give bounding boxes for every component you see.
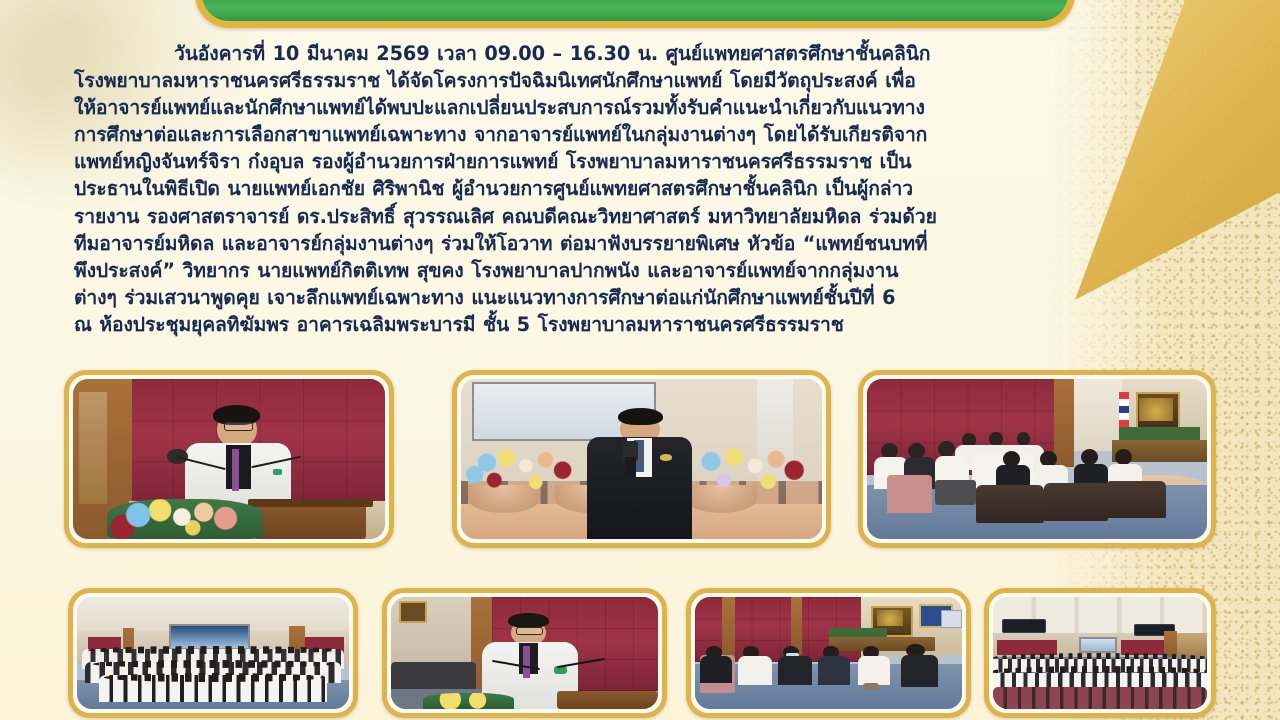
photo-7[interactable] [984, 588, 1216, 718]
photo-3[interactable] [858, 370, 1216, 548]
photo-2-image [461, 379, 822, 539]
photo-7-image [993, 597, 1207, 709]
photo-3-image [867, 379, 1207, 539]
photo-2[interactable] [452, 370, 831, 548]
photo-1-image [73, 379, 385, 539]
photo-6[interactable] [686, 588, 971, 718]
photo-4-image [77, 597, 349, 709]
photo-grid [0, 0, 1280, 720]
photo-4[interactable] [68, 588, 358, 718]
photo-6-image [695, 597, 962, 709]
photo-5-image [391, 597, 658, 709]
poster-canvas: วันอังคารที่ 10 มีนาคม 2569 เวลา 09.00 –… [0, 0, 1280, 720]
photo-5[interactable] [382, 588, 667, 718]
photo-1[interactable] [64, 370, 394, 548]
